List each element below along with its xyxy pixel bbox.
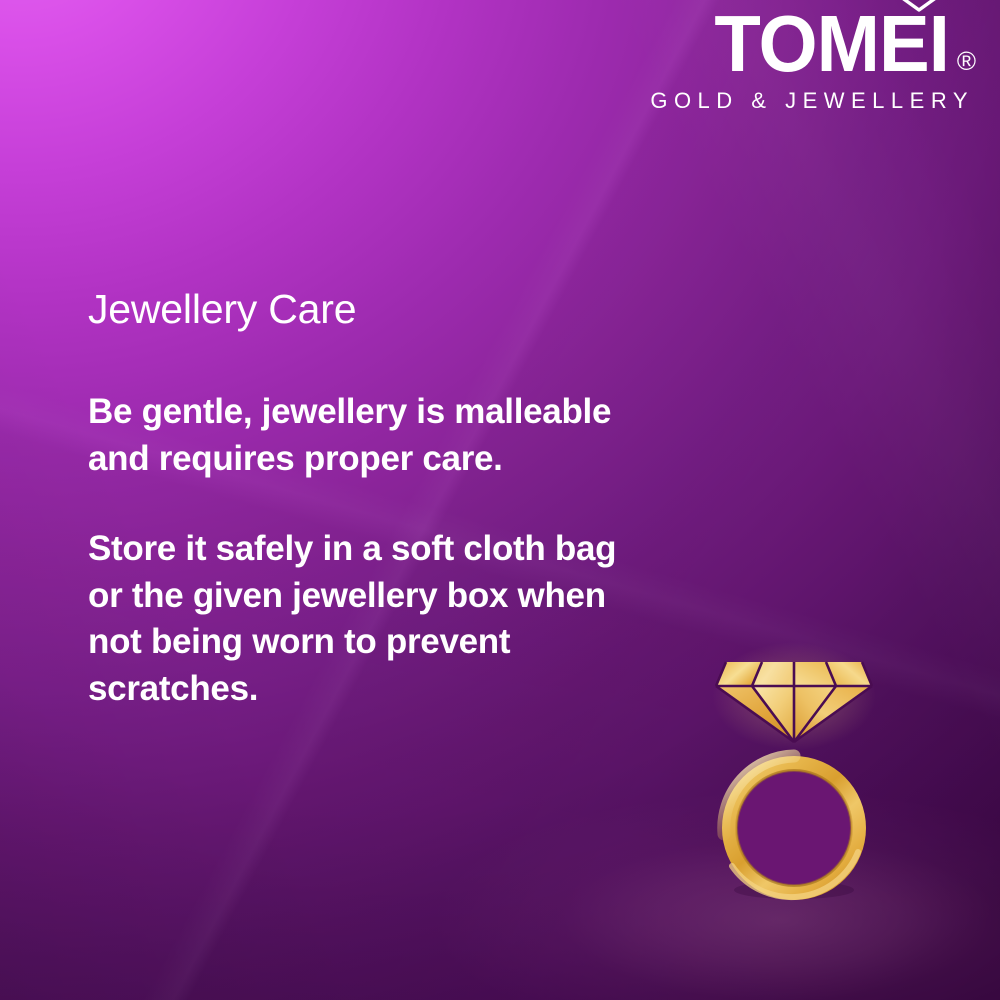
poster-canvas: TOMEI ® GOLD & JEWELLERY Jewellery Care … xyxy=(0,0,1000,1000)
brand-logo-row: TOMEI ® xyxy=(646,6,976,82)
brand-tagline: GOLD & JEWELLERY xyxy=(646,88,976,114)
brand-wordmark-wrap: TOMEI xyxy=(702,6,949,82)
care-paragraph-2: Store it safely in a soft cloth bag or t… xyxy=(88,526,648,712)
brand-wordmark: TOMEI xyxy=(714,6,949,82)
page-title: Jewellery Care xyxy=(88,286,688,333)
diamond-ring-icon xyxy=(694,638,894,918)
care-paragraph-1: Be gentle, jewellery is malleable and re… xyxy=(88,389,648,482)
copy-block: Jewellery Care Be gentle, jewellery is m… xyxy=(88,286,688,712)
registered-trademark-icon: ® xyxy=(957,48,976,82)
brand-logo[interactable]: TOMEI ® GOLD & JEWELLERY xyxy=(646,6,976,114)
